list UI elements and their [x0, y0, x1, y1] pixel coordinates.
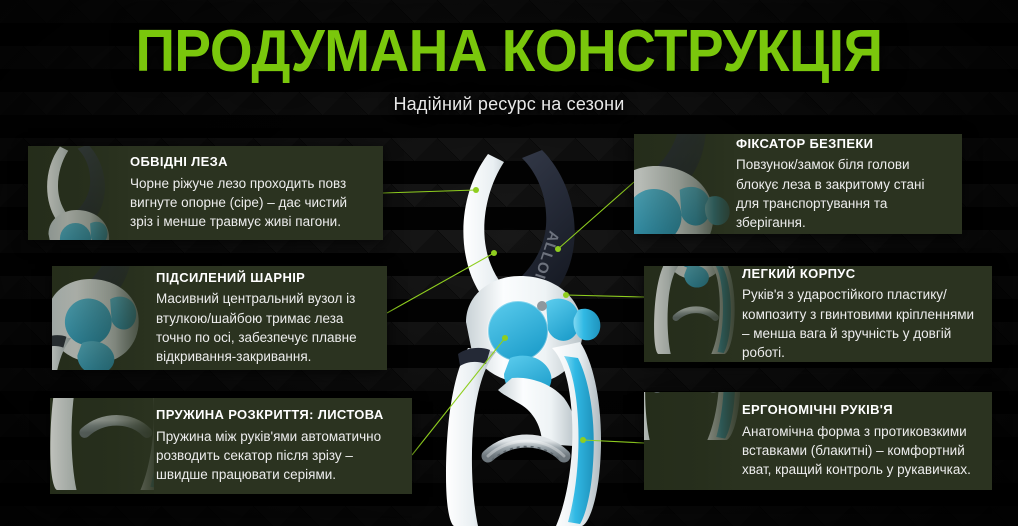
callout-body: ПРУЖИНА РОЗКРИТТЯ: ЛИСТОВА Пружина між р…	[154, 398, 412, 494]
callout-title: ОБВІДНІ ЛЕЗА	[130, 154, 370, 170]
callout-title: ПРУЖИНА РОЗКРИТТЯ: ЛИСТОВА	[156, 407, 399, 423]
callout-title: ПІДСИЛЕНИЙ ШАРНІР	[156, 270, 374, 286]
callout-title: ЕРГОНОМІЧНІ РУКІВ'Я	[742, 402, 979, 418]
callout-card-ergonomic-grips[interactable]: ЕРГОНОМІЧНІ РУКІВ'Я Анатомічна форма з п…	[644, 392, 992, 490]
callout-card-safety-lock[interactable]: ФІКСАТОР БЕЗПЕКИ Повзунок/замок біля гол…	[634, 134, 962, 234]
callout-thumbnail-bypass-blades	[28, 146, 128, 240]
callout-body: ПІДСИЛЕНИЙ ШАРНІР Масивний центральний в…	[154, 266, 387, 370]
callout-card-bypass-blades[interactable]: ОБВІДНІ ЛЕЗА Чорне ріжуче лезо проходить…	[28, 146, 383, 240]
callout-body: ОБВІДНІ ЛЕЗА Чорне ріжуче лезо проходить…	[128, 146, 383, 240]
callout-thumbnail-reinforced-pivot	[52, 266, 154, 370]
callout-body: ЕРГОНОМІЧНІ РУКІВ'Я Анатомічна форма з п…	[740, 392, 992, 490]
callout-thumbnail-safety-lock	[634, 134, 734, 234]
callout-thumbnail-ergonomic-grips	[644, 392, 740, 490]
page-title: ПРОДУМАНА КОНСТРУКЦІЯ	[36, 22, 983, 81]
callout-card-light-body[interactable]: ЛЕГКИЙ КОРПУС Руків'я з ударостійкого пл…	[644, 266, 992, 362]
callout-thumbnail-leaf-spring	[50, 398, 154, 494]
callout-text: Пружина між руків'ями автоматично розвод…	[156, 427, 399, 484]
callout-card-reinforced-pivot[interactable]: ПІДСИЛЕНИЙ ШАРНІР Масивний центральний в…	[52, 266, 387, 370]
callout-body: ЛЕГКИЙ КОРПУС Руків'я з ударостійкого пл…	[740, 266, 992, 362]
header: ПРОДУМАНА КОНСТРУКЦІЯ Надійний ресурс на…	[0, 0, 1018, 115]
page-subtitle: Надійний ресурс на сезони	[0, 94, 1018, 115]
callout-body: ФІКСАТОР БЕЗПЕКИ Повзунок/замок біля гол…	[734, 134, 962, 234]
callout-text: Повзунок/замок біля голови блокує леза в…	[736, 155, 949, 232]
callout-text: Масивний центральний вузол із втулкою/ша…	[156, 289, 374, 366]
callout-title: ЛЕГКИЙ КОРПУС	[742, 266, 979, 281]
callout-text: Анатомічна форма з протиковзкими вставка…	[742, 422, 979, 479]
callout-title: ФІКСАТОР БЕЗПЕКИ	[736, 136, 949, 152]
callout-thumbnail-light-body	[644, 266, 740, 362]
callout-card-leaf-spring[interactable]: ПРУЖИНА РОЗКРИТТЯ: ЛИСТОВА Пружина між р…	[50, 398, 412, 494]
callout-text: Чорне ріжуче лезо проходить повз вигнуте…	[130, 174, 370, 231]
infographic-stage: ПРОДУМАНА КОНСТРУКЦІЯ Надійний ресурс на…	[0, 0, 1018, 526]
product-image-pruning-shears: ALLOID	[392, 126, 660, 526]
callout-text: Руків'я з ударостійкого пластику/компози…	[742, 285, 979, 362]
